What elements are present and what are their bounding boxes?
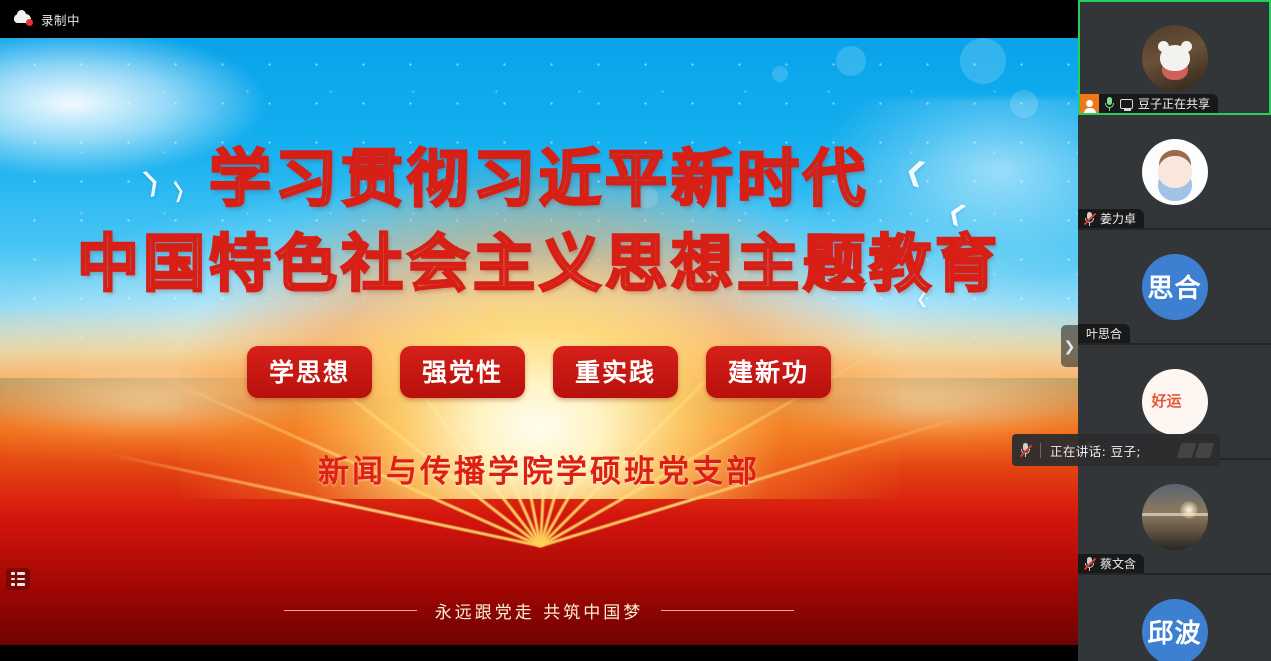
slide-title-line-1: 学习贯彻习近平新时代 [0,128,1078,218]
slide-subtitle: 新闻与传播学院学硕班党支部 [0,446,1078,491]
slide-bokeh [1010,90,1038,118]
meeting-window: 录制中 [0,0,1271,661]
divider [1040,443,1041,458]
slide-title-line-2: 中国特色社会主义思想主题教育 [0,213,1078,303]
screen-share-icon [1120,99,1133,109]
slide-footer: 永远跟党走 共筑中国梦 [0,598,1078,623]
avatar [1142,139,1208,205]
slide-bokeh [960,38,1006,84]
participant-tile-jianglizhuo[interactable]: 姜力卓 [1078,115,1271,230]
speaking-text: 正在讲话: 豆子; [1050,441,1141,460]
slide-footer-text: 永远跟党走 共筑中国梦 [435,598,643,623]
mic-muted-icon [1084,557,1095,571]
footer-rule-right [661,610,794,611]
participant-tile-yesihe[interactable]: 思合 叶思合 [1078,230,1271,345]
slide-bokeh [836,46,866,76]
participant-name: 姜力卓 [1100,210,1136,227]
avatar: 邱波 [1142,599,1208,661]
participant-tile-qiubo[interactable]: 邱波 [1078,575,1271,661]
participant-name-tag: 豆子正在共享 [1080,94,1218,113]
avatar-initials: 好运 [1151,394,1197,409]
cloud-record-icon [14,12,33,26]
avatar: 思合 [1142,254,1208,320]
avatar [1142,25,1208,91]
mic-muted-icon [1084,212,1095,226]
shared-screen-pane: 录制中 [0,0,1078,661]
participant-name-tag: 蔡文含 [1078,554,1144,573]
participant-name-tag: 姜力卓 [1078,209,1144,228]
footer-rule-left [284,610,417,611]
recording-status-bar: 录制中 [0,0,1078,38]
slide-pill: 学思想 [247,346,372,398]
participant-name: 叶思合 [1086,325,1122,342]
list-icon[interactable] [6,568,30,590]
slide-pill: 强党性 [400,346,525,398]
participant-strip[interactable]: 豆子正在共享 姜力卓 思合 叶思合 好运 [1078,0,1271,661]
slide-keyword-pills: 学思想 强党性 重实践 建新功 [0,346,1078,398]
mic-on-icon [1104,97,1115,111]
host-person-icon [1080,94,1099,113]
slide-pill: 重实践 [553,346,678,398]
slide-bokeh [772,66,788,82]
participant-name-tag: 叶思合 [1078,324,1130,343]
mic-muted-icon[interactable] [1020,443,1031,457]
avatar: 好运 [1142,369,1208,435]
speaking-indicator: 正在讲话: 豆子; [1012,434,1220,466]
recording-label: 录制中 [41,10,80,29]
avatar [1142,484,1208,550]
slide-pill: 建新功 [706,346,831,398]
presentation-slide: ❭ ❭ ❮ ❮ ❮ 学习贯彻习近平新时代 中国特色社会主义思想主题教育 学思想 … [0,38,1078,645]
participant-name: 蔡文含 [1100,555,1136,572]
chevron-right-icon[interactable]: ❯ [1061,325,1078,367]
participant-tile-caiwenhan[interactable]: 蔡文含 [1078,460,1271,575]
participant-tile-douzi[interactable]: 豆子正在共享 [1078,0,1271,115]
participant-name: 豆子正在共享 [1138,95,1210,112]
sound-wave-icon [1179,443,1212,458]
